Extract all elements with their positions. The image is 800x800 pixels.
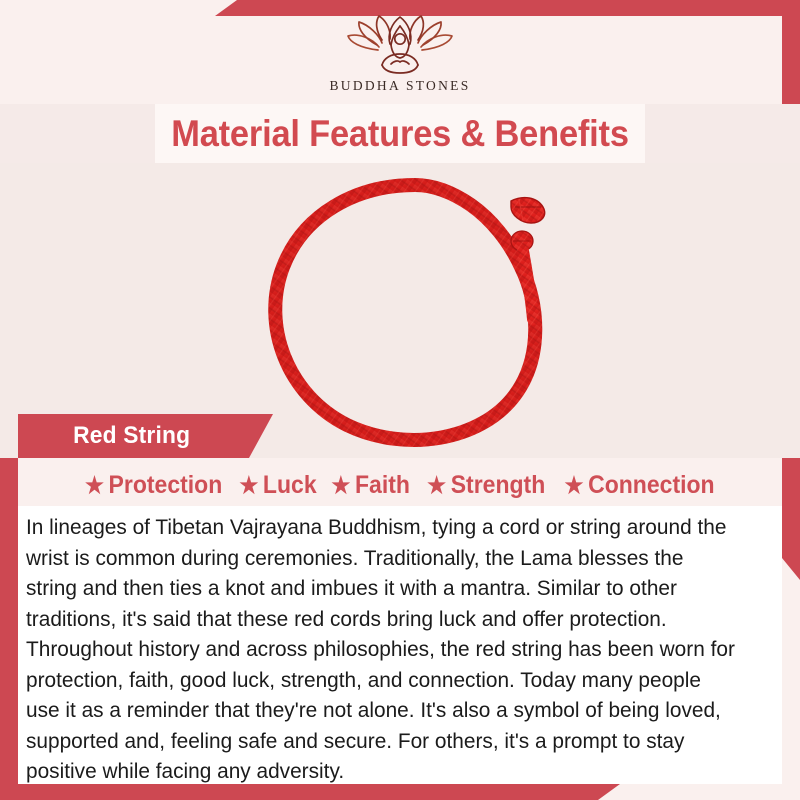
lotus-meditation-icon	[346, 14, 454, 76]
description-panel: In lineages of Tibetan Vajrayana Buddhis…	[18, 506, 782, 784]
infographic-poster: BUDDHA STONES Material Features & Benefi…	[0, 0, 800, 800]
star-icon: ★	[85, 474, 104, 497]
star-icon: ★	[332, 474, 351, 497]
benefit-item-faith: ★ Faith	[329, 471, 413, 500]
benefit-label: Protection	[108, 471, 222, 500]
product-image	[0, 163, 800, 458]
product-name-label: Red String	[73, 422, 190, 450]
product-name-ribbon: Red String	[18, 414, 273, 458]
title-plate: Material Features & Benefits	[155, 104, 645, 163]
benefit-item-strength: ★ Strength	[424, 471, 548, 500]
benefit-label: Luck	[263, 471, 317, 500]
brand-name: BUDDHA STONES	[329, 78, 470, 94]
benefit-label: Connection	[588, 471, 715, 500]
page-title: Material Features & Benefits	[171, 113, 629, 155]
brand-header: BUDDHA STONES	[0, 0, 800, 104]
benefit-item-luck: ★ Luck	[237, 471, 320, 500]
benefit-label: Strength	[450, 471, 545, 500]
description-text: In lineages of Tibetan Vajrayana Buddhis…	[26, 512, 740, 787]
benefit-label: Faith	[355, 471, 410, 500]
benefit-item-protection: ★ Protection	[82, 471, 225, 500]
star-icon: ★	[240, 474, 259, 497]
star-icon: ★	[564, 474, 583, 497]
benefit-keyword-row: ★ Protection ★ Luck ★ Faith ★ Strength ★…	[18, 465, 782, 505]
star-icon: ★	[427, 474, 446, 497]
benefit-item-connection: ★ Connection	[562, 471, 718, 500]
